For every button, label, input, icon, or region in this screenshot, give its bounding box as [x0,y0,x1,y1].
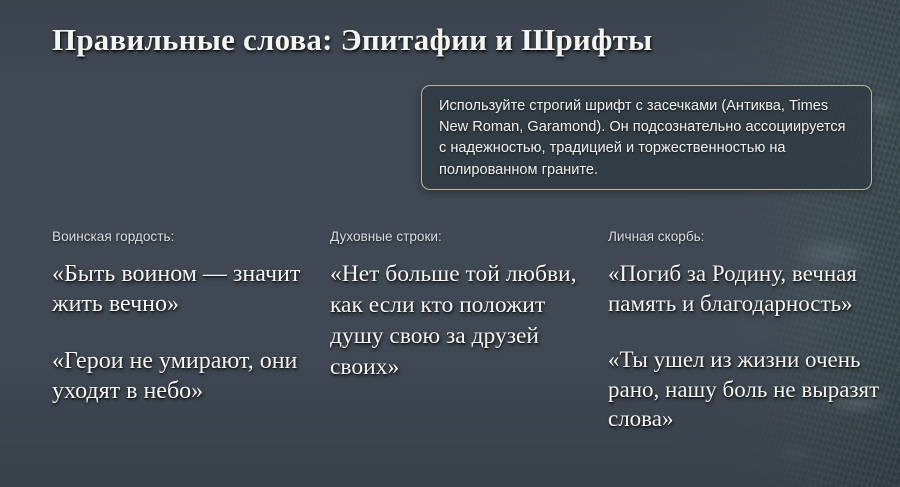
epitaph-quote: «Герои не умирают, они уходят в небо» [52,346,320,406]
epitaph-quote: «Нет больше той любви, как если кто поло… [330,259,602,383]
epitaph-quote: «Быть воином — значит жить вечно» [52,259,320,319]
font-advice-text: Используйте строгий шрифт с засечками (А… [439,96,855,181]
epitaph-quote: «Ты ушел из жизни очень рано, нашу боль … [608,345,894,434]
column-label-military-pride: Воинская гордость: [52,228,320,246]
epitaph-quote: «Погиб за Родину, вечная память и благод… [608,259,894,318]
font-advice-callout-box: Используйте строгий шрифт с засечками (А… [421,85,872,190]
column-label-personal-grief: Личная скорбь: [608,228,894,246]
column-personal-grief: Личная скорбь: «Погиб за Родину, вечная … [608,228,894,434]
column-spiritual-lines: Духовные строки: «Нет больше той любви, … [330,228,602,383]
column-military-pride: Воинская гордость: «Быть воином — значит… [52,228,320,406]
slide-canvas: Правильные слова: Эпитафии и Шрифты Испо… [0,0,900,487]
slide-title: Правильные слова: Эпитафии и Шрифты [52,20,652,60]
column-label-spiritual-lines: Духовные строки: [330,228,602,246]
